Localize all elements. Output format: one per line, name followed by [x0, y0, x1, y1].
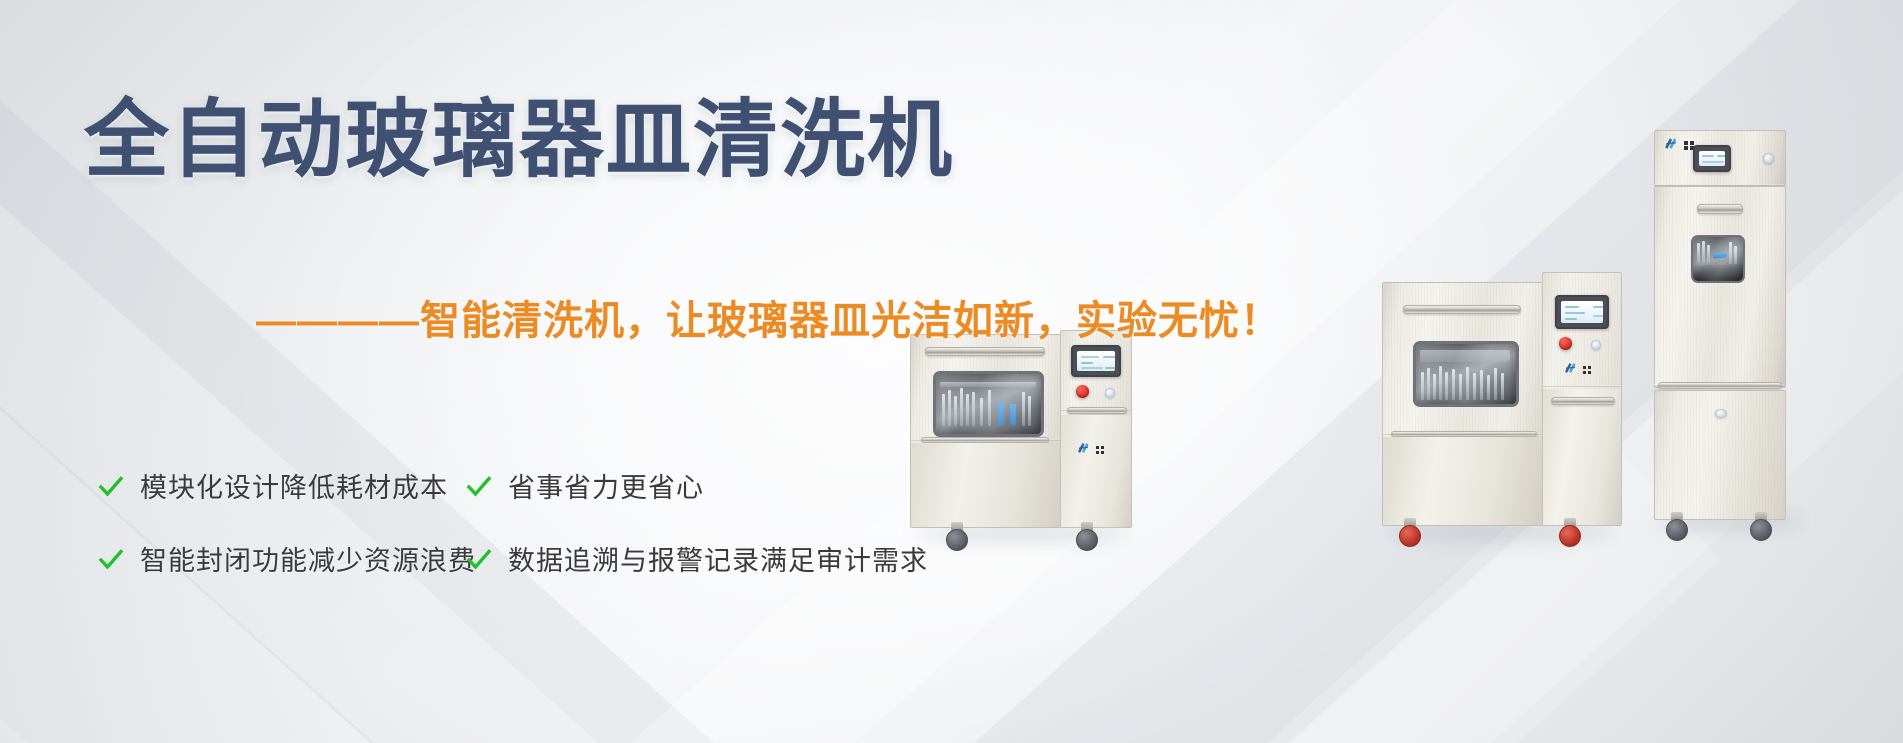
brand-mark-icon	[1663, 136, 1680, 155]
emergency-stop-button[interactable]	[1559, 337, 1572, 350]
power-button[interactable]	[1591, 340, 1601, 350]
list-item: 省事省力更省心	[466, 466, 936, 505]
power-button[interactable]	[1105, 388, 1115, 398]
check-icon	[466, 474, 492, 500]
page-title: 全自动玻璃器皿清洗机	[84, 96, 954, 186]
brand-logo	[1663, 136, 1694, 155]
list-item: 智能封闭功能减少资源浪费	[98, 539, 466, 578]
check-icon	[466, 547, 492, 573]
feature-text: 省事省力更省心	[508, 466, 704, 505]
hero-copy-block: 全自动玻璃器皿清洗机 ————智能清洗机，让玻璃器皿光洁如新，实验无忧！ 模块化…	[0, 0, 1100, 743]
list-item: 模块化设计降低耗材成本	[98, 466, 466, 505]
check-icon	[98, 547, 124, 573]
feature-text: 数据追溯与报警记录满足审计需求	[508, 539, 928, 578]
brand-logo	[1563, 361, 1591, 379]
caster-wheel	[1398, 518, 1422, 546]
caster-wheel	[1666, 512, 1688, 538]
feature-row: 智能封闭功能减少资源浪费 数据追溯与报警记录满足审计需求	[98, 539, 978, 578]
caster-wheel	[1750, 512, 1772, 538]
power-button[interactable]	[1763, 153, 1774, 164]
page-subtitle: ————智能清洗机，让玻璃器皿光洁如新，实验无忧！	[256, 288, 1281, 346]
check-icon	[98, 474, 124, 500]
feature-row: 模块化设计降低耗材成本 省事省力更省心	[98, 466, 978, 505]
feature-text: 模块化设计降低耗材成本	[140, 466, 448, 505]
hmi-touchscreen[interactable]	[1693, 145, 1731, 172]
product-freestanding-washer	[1382, 272, 1620, 540]
product-hero-banner: 全自动玻璃器皿清洗机 ————智能清洗机，让玻璃器皿光洁如新，实验无忧！ 模块化…	[0, 0, 1903, 743]
feature-text: 智能封闭功能减少资源浪费	[140, 539, 476, 578]
product-tall-column-washer	[1654, 110, 1804, 530]
hmi-touchscreen[interactable]	[1555, 295, 1609, 329]
list-item: 数据追溯与报警记录满足审计需求	[466, 539, 936, 578]
brand-grid-icon	[1583, 366, 1591, 374]
brand-mark-icon	[1563, 361, 1579, 379]
feature-list: 模块化设计降低耗材成本 省事省力更省心	[98, 466, 978, 612]
caster-wheel	[1558, 518, 1582, 546]
